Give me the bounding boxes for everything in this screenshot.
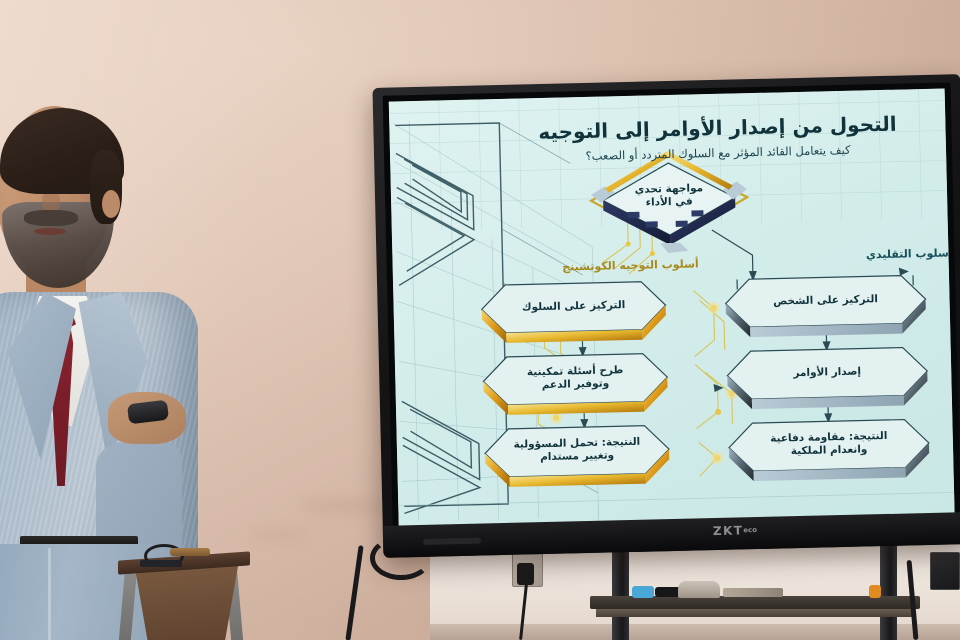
podium-object — [170, 548, 210, 556]
shelf-item-cloth — [678, 581, 720, 598]
interactive-display[interactable]: التحول من إصدار الأوامر إلى التوجيه كيف … — [372, 56, 960, 560]
stand-post-left — [612, 540, 629, 640]
branch-label-traditional: أسلوب التقليدي — [866, 246, 953, 261]
podium-table — [118, 530, 250, 640]
stand-shelf-edge — [596, 609, 914, 617]
podium-panel — [128, 566, 238, 640]
root-node-line-2: في الأداء — [609, 195, 729, 211]
root-node-label: مواجهة تحدي في الأداء — [609, 182, 730, 212]
presenter-head — [0, 106, 110, 271]
wall-smudge — [250, 530, 310, 539]
display-brand-logo: ZKTeco — [713, 523, 757, 538]
shelf-item-small-orange — [869, 585, 881, 598]
power-plug — [517, 563, 534, 585]
coaching-step-3: النتيجة: تحمل المسؤولية وتغيير مستدام — [487, 435, 668, 466]
podium-leg-left — [119, 564, 138, 640]
mustache — [24, 210, 78, 226]
wall-smudge — [300, 500, 390, 512]
coaching-step-2: طرح أسئلة تمكينية وتوفير الدعم — [487, 363, 664, 394]
traditional-step-3: النتيجة: مقاومة دفاعية وانعدام الملكية — [735, 429, 924, 460]
display-brand-suffix: eco — [743, 526, 757, 534]
shelf-item-papers — [723, 588, 783, 597]
display-bezel: التحول من إصدار الأوامر إلى التوجيه كيف … — [372, 74, 960, 558]
stand-post-right — [880, 540, 897, 640]
ear — [102, 190, 120, 218]
mouth — [34, 228, 66, 235]
wall-outlet-secondary[interactable] — [930, 552, 960, 590]
trouser-crease — [48, 548, 51, 640]
scene-root: التحول من إصدار الأوامر إلى التوجيه كيف … — [0, 0, 960, 640]
podium-device — [140, 560, 182, 567]
presentation-slide[interactable]: التحول من إصدار الأوامر إلى التوجيه كيف … — [389, 89, 955, 530]
shelf-item-blue-box — [632, 586, 654, 598]
display-screen[interactable]: التحول من إصدار الأوامر إلى التوجيه كيف … — [389, 89, 955, 530]
display-brand-name: ZKT — [713, 523, 744, 538]
